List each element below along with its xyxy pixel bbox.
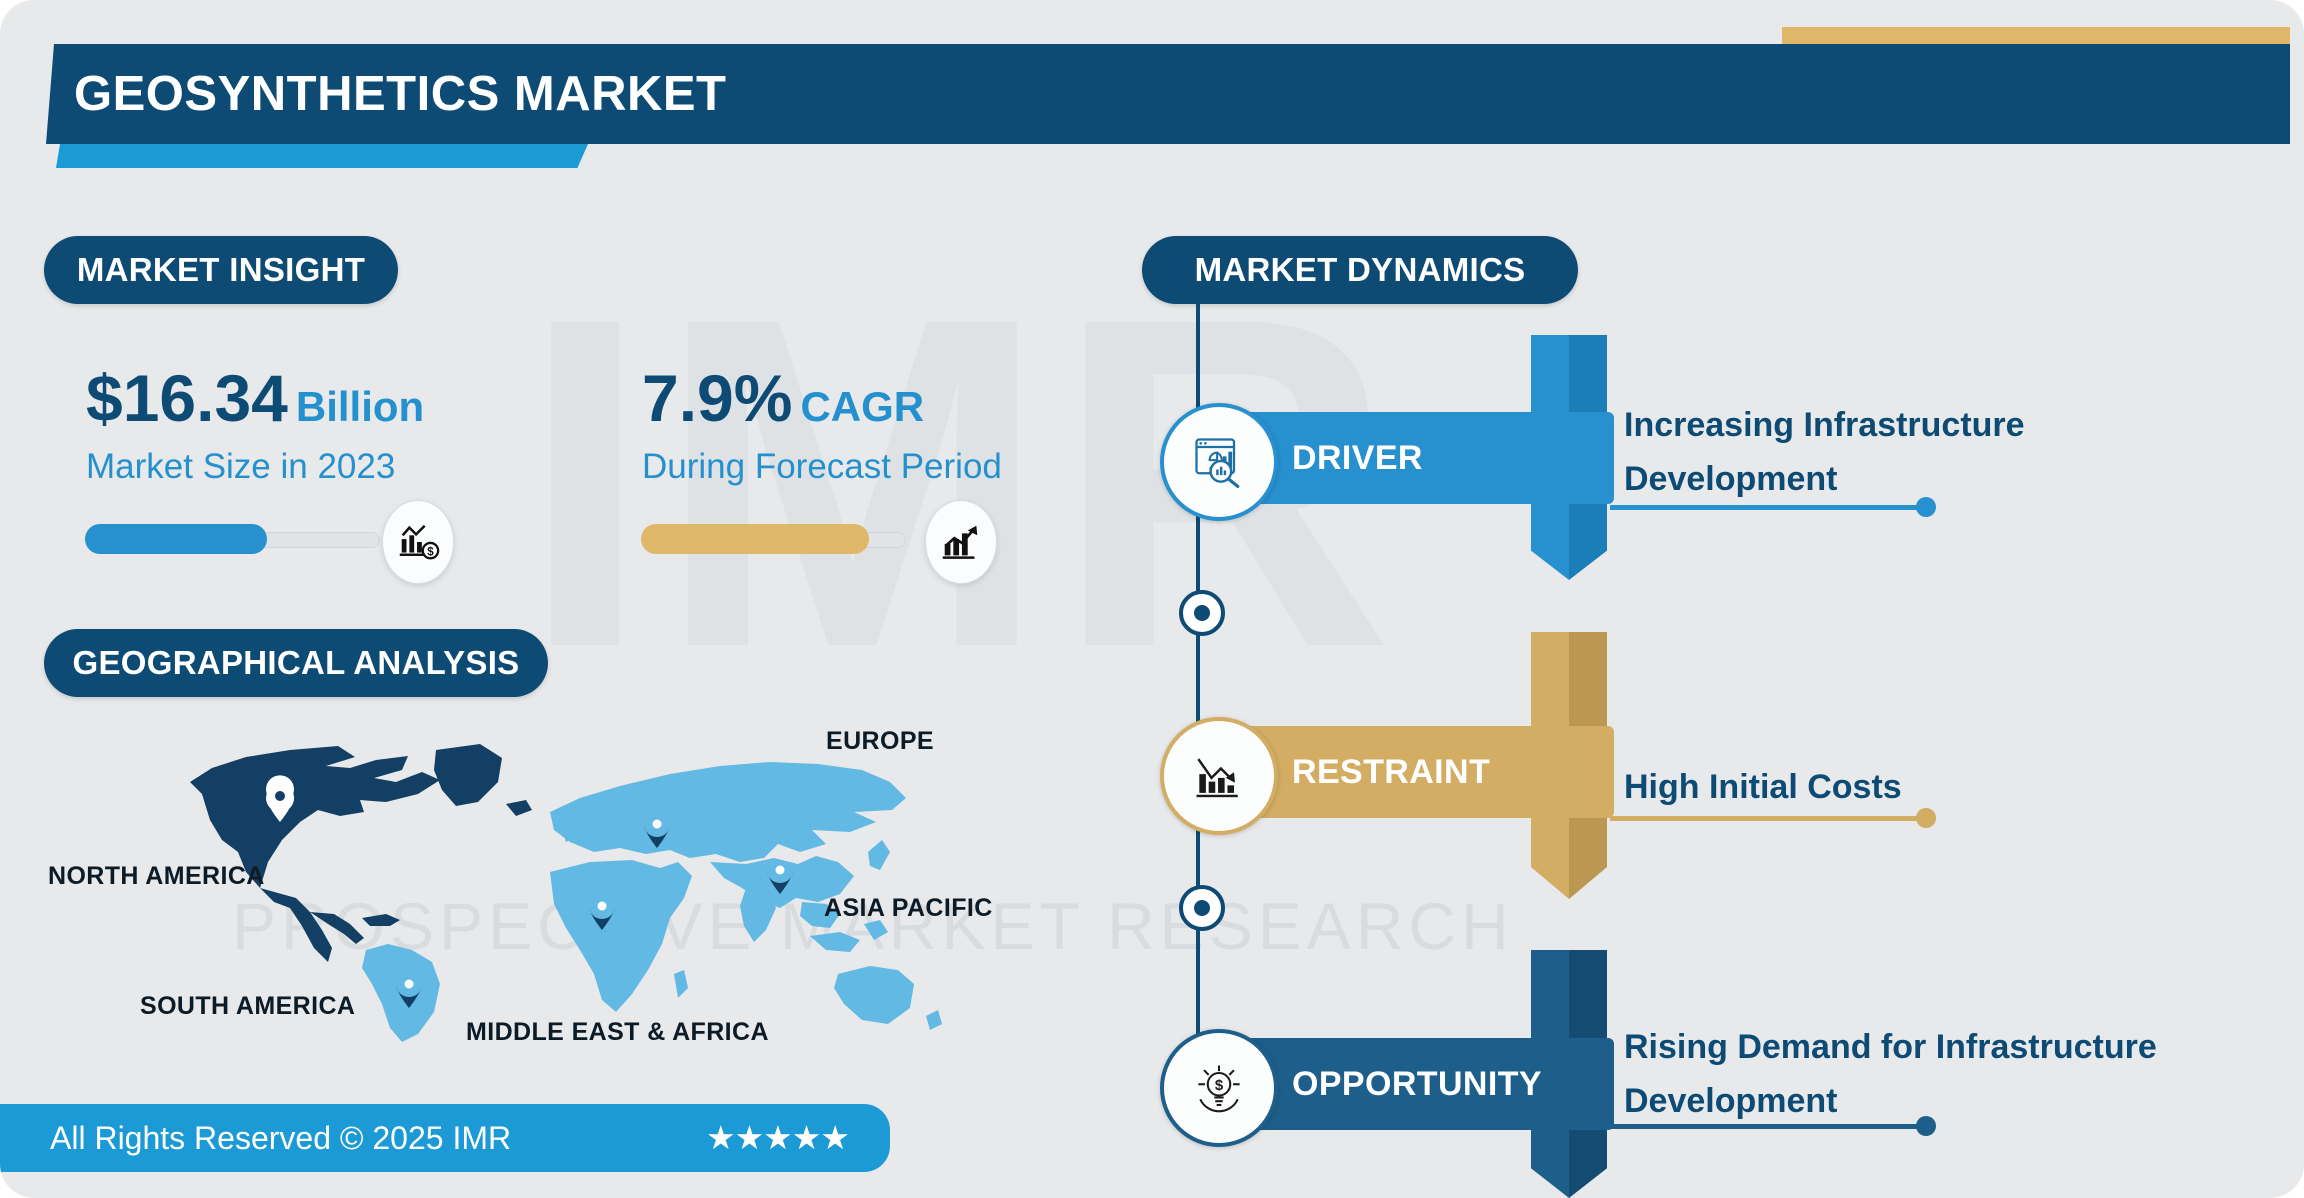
market-size-progress-track — [86, 532, 380, 548]
section-pill-geographical-analysis: GEOGRAPHICAL ANALYSIS — [44, 629, 548, 697]
lightbulb-dollar-icon: $ — [1160, 1029, 1278, 1147]
market-size-caption: Market Size in 2023 — [86, 447, 424, 487]
map-label-north-america: NORTH AMERICA — [48, 862, 265, 891]
header-underline-accent — [56, 144, 588, 168]
cagr-value: 7.9% — [642, 361, 792, 435]
cagr-progress-fill — [641, 524, 869, 554]
dynamics-dot-opportunity — [1916, 1116, 1936, 1136]
map-label-asia-pacific: ASIA PACIFIC — [824, 894, 993, 923]
growth-chart-icon — [925, 500, 997, 584]
stat-market-size: $16.34Billion Market Size in 2023 — [86, 365, 424, 487]
dynamics-label-opportunity: OPPORTUNITY — [1292, 1065, 1542, 1104]
map-label-south-america: SOUTH AMERICA — [140, 992, 355, 1021]
report-magnifier-icon — [1160, 403, 1278, 521]
dynamics-connector-restraint — [1610, 816, 1926, 821]
dynamics-connector-driver — [1610, 505, 1926, 510]
timeline-node-1 — [1179, 590, 1225, 636]
stat-cagr: 7.9%CAGR During Forecast Period — [642, 365, 1002, 487]
dynamics-text-opportunity: Rising Demand for Infrastructure Develop… — [1624, 1020, 2244, 1128]
dynamics-dot-restraint — [1916, 808, 1936, 828]
dynamics-label-restraint: RESTRAINT — [1292, 753, 1490, 792]
bar-chart-dollar-icon: $ — [382, 500, 454, 584]
dynamics-text-restraint: High Initial Costs — [1624, 760, 2244, 814]
timeline-node-2 — [1179, 885, 1225, 931]
section-pill-market-insight: MARKET INSIGHT — [44, 236, 398, 304]
page-title: GEOSYNTHETICS MARKET — [74, 60, 726, 128]
footer-copyright: All Rights Reserved © 2025 IMR — [50, 1120, 511, 1157]
infographic-canvas: IMR PROSPECTIVE MARKET RESEARCH GEOSYNTH… — [0, 0, 2304, 1198]
market-size-progress-fill — [85, 524, 267, 554]
svg-text:$: $ — [1215, 1077, 1224, 1094]
dynamics-dot-driver — [1916, 497, 1936, 517]
market-size-unit: Billion — [296, 383, 424, 430]
dynamics-connector-opportunity — [1610, 1124, 1926, 1129]
section-pill-market-dynamics: MARKET DYNAMICS — [1142, 236, 1578, 304]
rating-stars-icon: ★★★★★ — [706, 1118, 849, 1157]
dynamics-bar-opportunity[interactable]: $ OPPORTUNITY — [1196, 1038, 1614, 1130]
dynamics-label-driver: DRIVER — [1292, 439, 1423, 478]
dynamics-text-driver: Increasing Infrastructure Development — [1624, 398, 2244, 506]
map-label-middle-east-africa: MIDDLE EAST & AFRICA — [466, 1018, 769, 1047]
map-label-europe: EUROPE — [826, 727, 934, 756]
cagr-progress-track — [642, 532, 906, 548]
header-gold-accent — [1782, 27, 2290, 46]
cagr-unit: CAGR — [800, 383, 924, 430]
cagr-caption: During Forecast Period — [642, 447, 1002, 487]
dynamics-bar-restraint[interactable]: RESTRAINT — [1196, 726, 1614, 818]
market-size-value: $16.34 — [86, 361, 288, 435]
declining-chart-icon — [1160, 717, 1278, 835]
svg-text:$: $ — [427, 546, 434, 558]
dynamics-bar-driver[interactable]: DRIVER — [1196, 412, 1614, 504]
